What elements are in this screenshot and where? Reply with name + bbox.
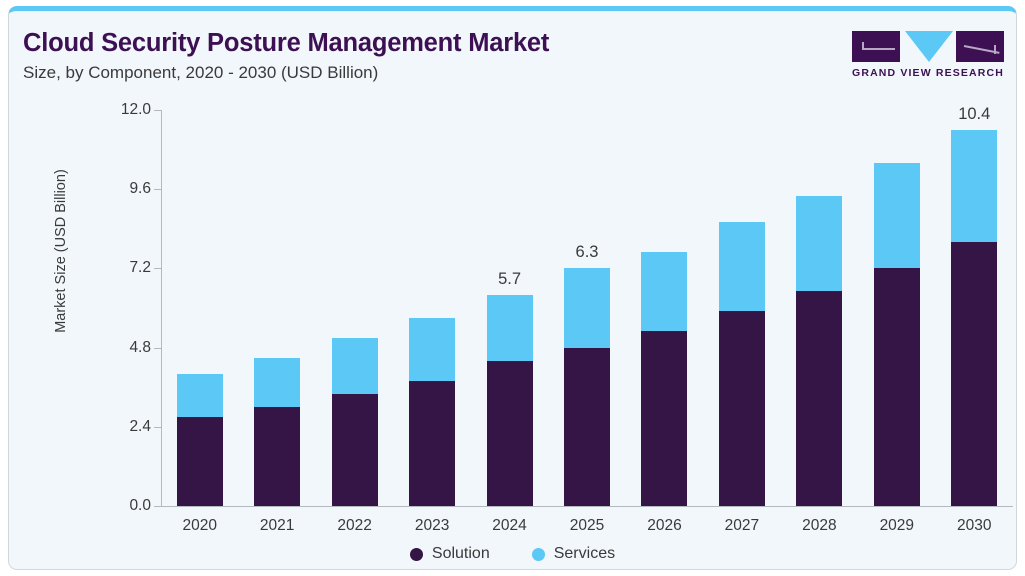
bar-segment-solution-2030[interactable]: [951, 242, 997, 506]
bar-stack-2023[interactable]: [409, 318, 455, 506]
bar-segment-services-2020[interactable]: [177, 374, 223, 417]
x-axis-tick-label-2020: 2020: [160, 517, 240, 535]
bar-value-label-2030: 10.4: [934, 105, 1014, 124]
y-axis-tick-mark: [154, 506, 161, 507]
legend-swatch-icon: [410, 548, 423, 561]
y-axis-tick-label: 7.2: [99, 259, 151, 277]
bar-segment-services-2027[interactable]: [719, 222, 765, 311]
y-axis-tick-mark: [154, 427, 161, 428]
chart-legend: SolutionServices: [9, 545, 1016, 563]
legend-swatch-icon: [532, 548, 545, 561]
bar-stack-2028[interactable]: [796, 196, 842, 506]
bar-stack-2029[interactable]: [874, 163, 920, 506]
bar-stack-2024[interactable]: [487, 295, 533, 506]
x-axis-tick-label-2026: 2026: [624, 517, 704, 535]
bar-segment-solution-2024[interactable]: [487, 361, 533, 506]
bar-segment-solution-2029[interactable]: [874, 268, 920, 506]
bar-stack-2027[interactable]: [719, 222, 765, 506]
bar-value-label-2025: 6.3: [547, 243, 627, 262]
y-axis-tick-label: 2.4: [99, 418, 151, 436]
y-axis-tick-label: 9.6: [99, 180, 151, 198]
bar-segment-solution-2025[interactable]: [564, 348, 610, 506]
legend-item-solution[interactable]: Solution: [410, 545, 490, 563]
y-axis-tick-mark: [154, 348, 161, 349]
x-axis-tick-label-2030: 2030: [934, 517, 1014, 535]
bar-segment-solution-2020[interactable]: [177, 417, 223, 506]
x-axis-tick-label-2024: 2024: [470, 517, 550, 535]
legend-label: Services: [554, 545, 615, 563]
x-axis-tick-label-2021: 2021: [237, 517, 317, 535]
bar-segment-solution-2026[interactable]: [641, 331, 687, 506]
bar-segment-solution-2027[interactable]: [719, 311, 765, 506]
bar-segment-services-2026[interactable]: [641, 252, 687, 331]
x-axis-line: [161, 506, 1013, 507]
chart-plot-area: Market Size (USD Billion) 0.02.44.87.29.…: [9, 11, 1016, 569]
y-axis-tick-mark: [154, 268, 161, 269]
x-axis-tick-label-2025: 2025: [547, 517, 627, 535]
bar-stack-2020[interactable]: [177, 374, 223, 506]
x-axis-tick-label-2028: 2028: [779, 517, 859, 535]
bar-segment-solution-2021[interactable]: [254, 407, 300, 506]
bar-stack-2030[interactable]: [951, 130, 997, 506]
bar-segment-services-2029[interactable]: [874, 163, 920, 269]
bar-segment-services-2030[interactable]: [951, 130, 997, 242]
chart-card: Cloud Security Posture Management Market…: [8, 6, 1017, 570]
y-axis-title: Market Size (USD Billion): [53, 136, 69, 366]
y-axis-tick-label: 0.0: [99, 497, 151, 515]
bar-segment-solution-2028[interactable]: [796, 291, 842, 506]
bar-stack-2022[interactable]: [332, 338, 378, 506]
y-axis-tick-mark: [154, 189, 161, 190]
x-axis-tick-label-2029: 2029: [857, 517, 937, 535]
bar-segment-services-2028[interactable]: [796, 196, 842, 292]
y-axis-tick-mark: [154, 110, 161, 111]
x-axis-tick-label-2022: 2022: [315, 517, 395, 535]
bar-segment-solution-2023[interactable]: [409, 381, 455, 506]
chart-screenshot: Cloud Security Posture Management Market…: [0, 0, 1025, 576]
bar-stack-2021[interactable]: [254, 358, 300, 507]
bar-value-label-2024: 5.7: [470, 270, 550, 289]
bar-stack-2026[interactable]: [641, 252, 687, 506]
legend-item-services[interactable]: Services: [532, 545, 615, 563]
y-axis-tick-label: 4.8: [99, 339, 151, 357]
bar-segment-services-2021[interactable]: [254, 358, 300, 408]
y-axis-tick-label: 12.0: [99, 101, 151, 119]
x-axis-tick-label-2023: 2023: [392, 517, 472, 535]
legend-label: Solution: [432, 545, 490, 563]
bar-segment-services-2023[interactable]: [409, 318, 455, 381]
bar-segment-services-2025[interactable]: [564, 268, 610, 347]
x-axis-tick-label-2027: 2027: [702, 517, 782, 535]
bar-segment-services-2024[interactable]: [487, 295, 533, 361]
bar-segment-solution-2022[interactable]: [332, 394, 378, 506]
y-axis-line: [161, 110, 162, 506]
bar-stack-2025[interactable]: [564, 268, 610, 506]
bar-segment-services-2022[interactable]: [332, 338, 378, 394]
